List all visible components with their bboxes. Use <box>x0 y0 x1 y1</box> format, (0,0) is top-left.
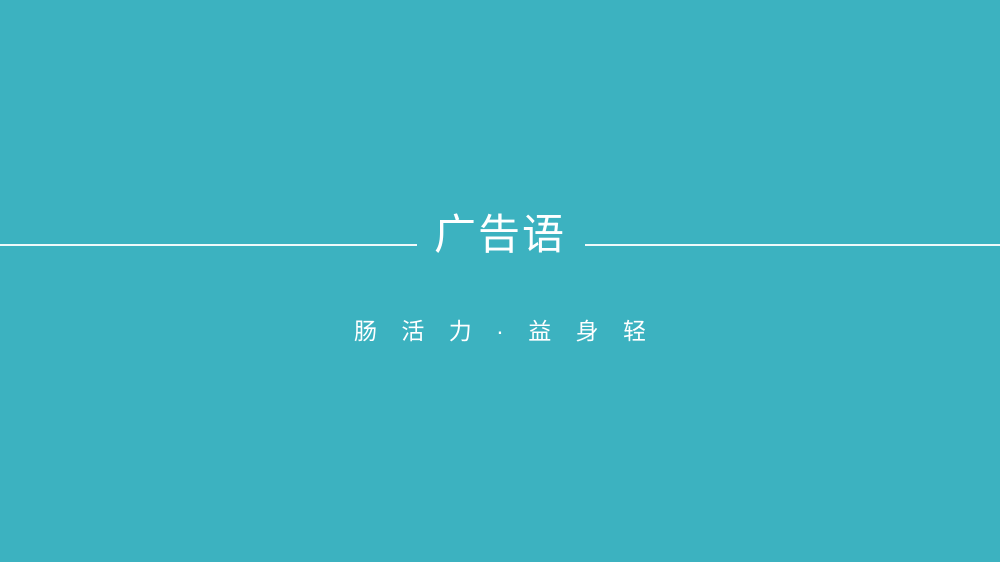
title-block: 广告语 <box>0 214 1000 256</box>
slogan-subtitle: 肠 活 力 · 益 身 轻 <box>345 320 655 343</box>
slide-canvas: 广告语 肠 活 力 · 益 身 轻 <box>0 0 1000 562</box>
subtitle-block: 肠 活 力 · 益 身 轻 <box>0 320 1000 343</box>
page-title: 广告语 <box>434 214 566 256</box>
